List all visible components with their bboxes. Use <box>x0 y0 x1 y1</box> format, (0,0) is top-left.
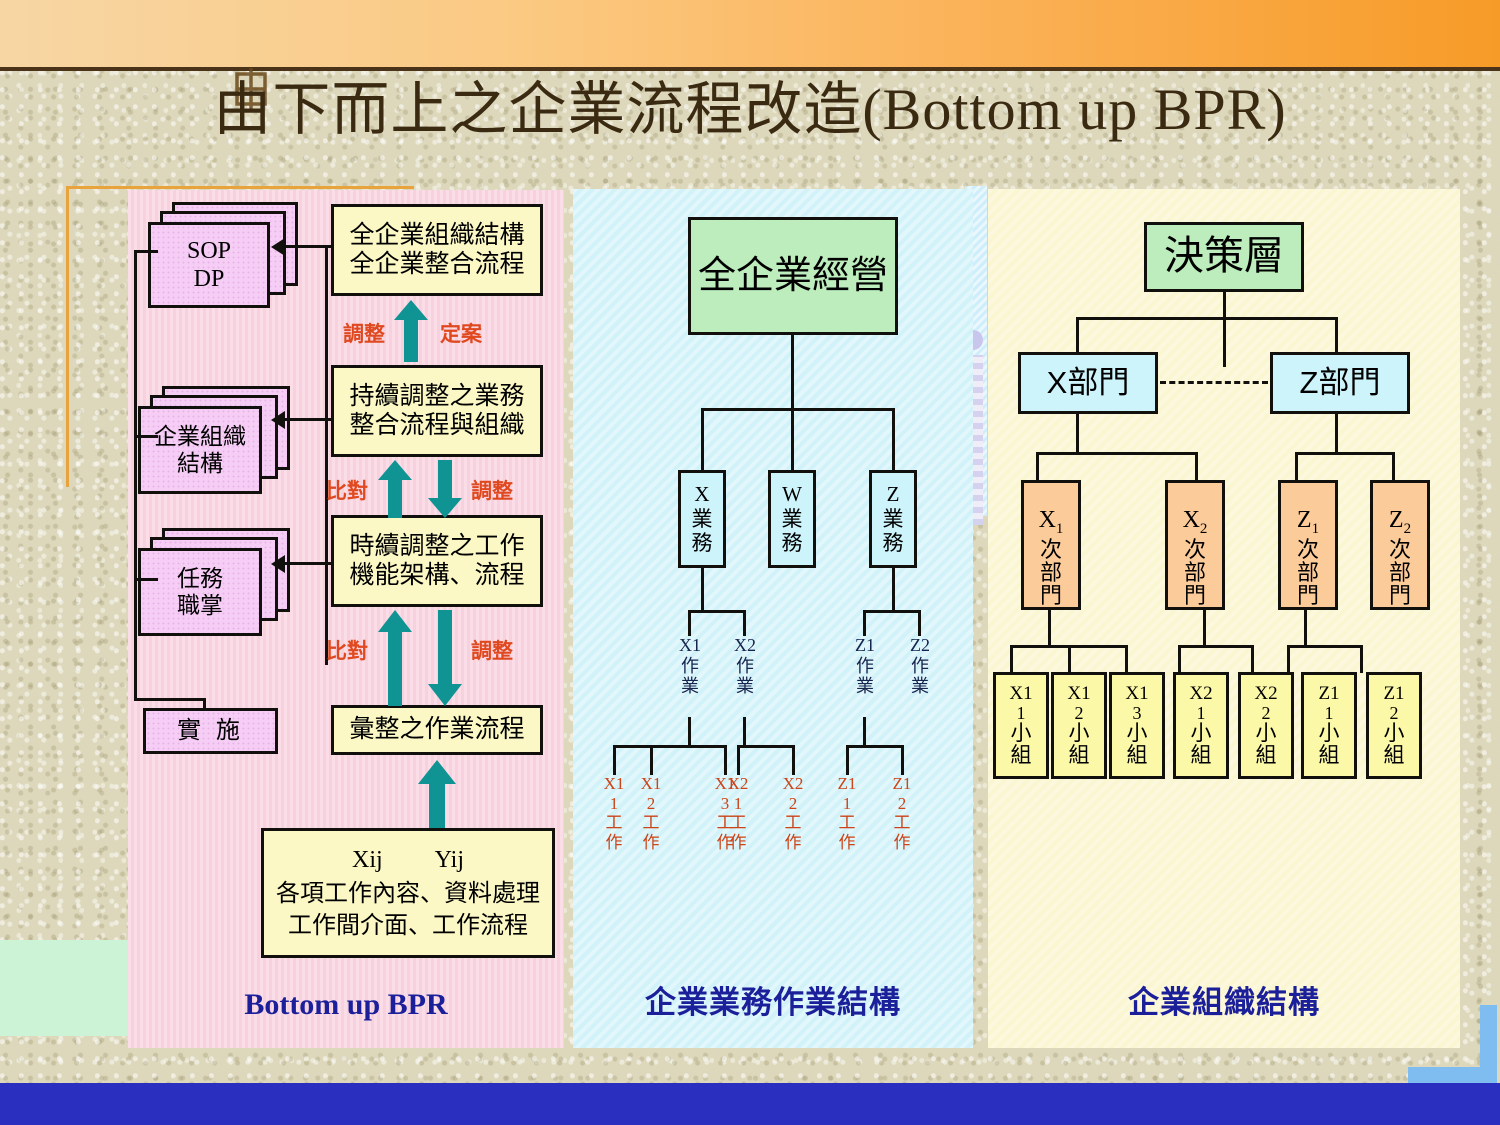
biz-node-w: W 業 務 <box>768 470 816 568</box>
biz-work-x11: X1 1 工 作 <box>595 774 633 852</box>
box-0-line1: 全企業組織結構 <box>349 221 524 251</box>
biz-leaf-z2: Z2 作 業 <box>900 635 940 697</box>
biz-x21-drop <box>737 745 740 775</box>
doc-stack-duty: 任務 職掌 <box>138 528 298 638</box>
org-x11-drop <box>1010 645 1013 673</box>
biz-x2-rail <box>737 745 795 748</box>
doc-duty: 任務 職掌 <box>138 548 262 636</box>
biz-level2-drop-x <box>701 408 704 470</box>
doc-stack-sop-dp: SOP DP <box>148 202 298 312</box>
doc-sop-dp: SOP DP <box>148 222 270 308</box>
org-team-x1-1-word: 小 組 <box>1011 723 1032 767</box>
biz-x-drop <box>701 568 704 612</box>
org-subdept-z2-rest: 次 部 門 <box>1389 538 1411 607</box>
code-xij: Xij <box>352 846 383 874</box>
org-team-x1-3-num: 3 <box>1133 704 1142 723</box>
caption-business-structure: 企業業務作業結構 <box>573 977 973 1022</box>
org-x21-drop <box>1178 645 1181 673</box>
caption-bottom-up-bpr: Bottom up BPR <box>128 988 564 1022</box>
left-spine-branch-3 <box>134 578 158 581</box>
org-subdept-x2: X2 次 部 門 <box>1165 480 1225 610</box>
box-xij-yij-codes: Xij Yij <box>352 846 464 874</box>
org-team-x1-3-code: X1 <box>1125 684 1148 704</box>
biz-x11-drop <box>613 745 616 775</box>
biz-node-x: X 業 務 <box>678 470 726 568</box>
org-x13-drop <box>1125 645 1128 673</box>
fat-arrow-down-2-icon <box>428 610 462 706</box>
org-subdept-z1-rest: 次 部 門 <box>1297 538 1319 607</box>
doc-org-structure-line1: 企業組織 <box>154 423 246 450</box>
biz-x2-drop <box>743 610 746 636</box>
biz-level2-drop-z <box>892 408 895 470</box>
org-root-node: 決策層 <box>1144 222 1304 292</box>
biz-leaf-x1: X1 作 業 <box>670 635 710 697</box>
org-z-stem <box>1335 414 1338 454</box>
doc-sop-dp-line1: SOP <box>187 237 231 265</box>
org-team-z1-2-code: Z1 <box>1383 684 1404 704</box>
biz-z1-rail <box>846 745 904 748</box>
org-subdept-x1-rest: 次 部 門 <box>1040 538 1062 607</box>
org-team-x2-2-num: 2 <box>1262 704 1271 723</box>
org-dept-x-drop <box>1076 317 1079 357</box>
biz-x13-drop <box>724 745 727 775</box>
org-dept-x: X部門 <box>1018 352 1158 414</box>
label-compare-1: 比對 <box>326 475 368 505</box>
org-z2-drop <box>1392 452 1395 482</box>
biz-z2-drop <box>918 610 921 636</box>
biz-x1-stem <box>688 717 691 747</box>
box-continuous-work-function: 時續調整之工作 機能架構、流程 <box>331 515 543 607</box>
org-dept-dashed-link <box>1160 381 1268 384</box>
label-adjust-1: 調整 <box>343 318 385 348</box>
biz-node-z: Z 業 務 <box>869 470 917 568</box>
box-2-line1: 時續調整之工作 <box>349 532 524 562</box>
org-team-x2-1-num: 1 <box>1197 704 1206 723</box>
biz-z1-drop <box>863 610 866 636</box>
org-x2-drop <box>1195 452 1198 482</box>
org-team-x1-1-code: X1 <box>1009 684 1032 704</box>
box-2-line2: 機能架構、流程 <box>349 561 524 591</box>
org-dept-z: Z部門 <box>1270 352 1410 414</box>
biz-z-rail <box>863 610 921 613</box>
biz-work-x21: X2 1 工 作 <box>719 774 757 852</box>
org-x1-stem <box>1048 610 1051 647</box>
org-team-x1-2-word: 小 組 <box>1069 723 1090 767</box>
org-team-x2-2: X2 2 小 組 <box>1238 672 1294 779</box>
biz-work-x22: X2 2 工 作 <box>774 774 812 852</box>
panel-business-operation-structure: 全企業經營 X 業 務 W 業 務 Z 業 務 X1 作 業 X2 作 業 Z1… <box>573 189 973 1048</box>
org-team-x2-1-word: 小 組 <box>1191 723 1212 767</box>
org-team-z1-2-num: 2 <box>1390 704 1399 723</box>
arrow-to-doc-3 <box>283 562 331 565</box>
caption-organization-structure: 企業組織結構 <box>988 977 1460 1022</box>
box-xij-yij-line2: 各項工作內容、資料處理 <box>276 880 540 908</box>
org-x1-drop <box>1036 452 1039 482</box>
org-subdept-z1-code: Z1 <box>1297 483 1319 538</box>
biz-z1-stem <box>863 717 866 747</box>
left-spine-to-implement <box>134 698 206 701</box>
box-enterprise-structure-process: 全企業組織結構 全企業整合流程 <box>331 204 543 296</box>
org-team-z1-1: Z1 1 小 組 <box>1301 672 1357 779</box>
biz-leaf-z1: Z1 作 業 <box>845 635 885 697</box>
org-team-x1-2-code: X1 <box>1067 684 1090 704</box>
left-spine-line <box>134 250 137 700</box>
box-continuous-biz-integration: 持續調整之業務 整合流程與組織 <box>331 365 543 457</box>
org-x22-drop <box>1251 645 1254 673</box>
biz-x12-drop <box>650 745 653 775</box>
org-team-x1-2-num: 2 <box>1075 704 1084 723</box>
org-subdept-x1-code: X1 <box>1039 483 1064 538</box>
org-subdept-z1: Z1 次 部 門 <box>1278 480 1338 610</box>
biz-work-z11: Z1 1 工 作 <box>828 774 866 852</box>
org-team-x1-2: X1 2 小 組 <box>1051 672 1107 779</box>
org-root-drop <box>1223 292 1226 367</box>
box-1-line1: 持續調整之業務 <box>349 382 524 412</box>
biz-x-rail <box>688 610 746 613</box>
biz-level2-rail <box>701 408 895 411</box>
biz-x22-drop <box>792 745 795 775</box>
biz-x1-rail <box>613 745 727 748</box>
org-team-x1-3-word: 小 組 <box>1127 723 1148 767</box>
left-spine-branch-2 <box>134 435 158 438</box>
arrow-to-doc-1 <box>283 245 331 248</box>
right-spine-line <box>325 245 328 665</box>
org-z12-drop <box>1360 645 1363 673</box>
label-finalize: 定案 <box>440 318 482 348</box>
label-adjust-3: 調整 <box>471 635 513 665</box>
org-dept-rail <box>1076 317 1338 320</box>
footer-blue-band <box>0 1083 1500 1125</box>
fat-arrow-up-2-icon <box>378 460 412 518</box>
biz-leaf-x2: X2 作 業 <box>725 635 765 697</box>
doc-sop-dp-line2: DP <box>194 265 225 293</box>
org-x2-stem <box>1203 610 1206 647</box>
biz-root-drop <box>791 335 794 410</box>
org-team-z1-2-word: 小 組 <box>1384 723 1405 767</box>
fat-arrow-up-1-icon <box>394 300 428 362</box>
implement-box: 實 施 <box>143 708 278 754</box>
biz-x2-stem <box>743 717 746 747</box>
panel-organization-structure: 決策層 X部門 Z部門 X1 次 部 門 X2 次 部 門 Z1 次 部 門 Z… <box>988 189 1460 1048</box>
org-subdept-x2-rest: 次 部 門 <box>1184 538 1206 607</box>
box-0-line2: 全企業整合流程 <box>349 250 524 280</box>
org-team-x1-3: X1 3 小 組 <box>1109 672 1165 779</box>
org-z1-drop <box>1295 452 1298 482</box>
org-team-z1-1-code: Z1 <box>1318 684 1339 704</box>
biz-x1-drop <box>688 610 691 636</box>
code-yij: Yij <box>435 846 464 874</box>
arrowhead-doc-2-icon <box>271 411 285 429</box>
org-z1-team-rail <box>1287 645 1363 648</box>
org-x12-drop <box>1068 645 1071 673</box>
label-compare-2: 比對 <box>326 635 368 665</box>
doc-org-structure: 企業組織 結構 <box>138 406 262 494</box>
doc-org-structure-line2: 結構 <box>177 450 223 477</box>
fat-arrow-up-3-icon <box>378 610 412 706</box>
biz-z12-drop <box>901 745 904 775</box>
biz-level2-drop-w <box>791 408 794 470</box>
arrowhead-doc-3-icon <box>271 555 285 573</box>
biz-root-node: 全企業經營 <box>688 217 898 335</box>
org-team-x2-1-code: X2 <box>1189 684 1212 704</box>
org-dept-z-drop <box>1335 317 1338 357</box>
org-subdept-x2-code: X2 <box>1183 483 1208 538</box>
org-team-z1-1-word: 小 組 <box>1319 723 1340 767</box>
panel-bottom-up-bpr: SOP DP 企業組織 結構 任務 職掌 實 施 全企業組織結構 全企業整合流程… <box>128 190 564 1048</box>
biz-work-x12: X1 2 工 作 <box>632 774 670 852</box>
box-xij-yij-line3: 工作間介面、工作流程 <box>288 912 528 940</box>
doc-stack-org-structure: 企業組織 結構 <box>138 386 298 496</box>
org-x-rail <box>1036 452 1198 455</box>
doc-duty-line2: 職掌 <box>177 592 223 619</box>
fat-arrow-down-1-icon <box>428 460 462 518</box>
org-subdept-z2-code: Z2 <box>1389 483 1411 538</box>
org-team-x2-2-code: X2 <box>1254 684 1277 704</box>
org-z11-drop <box>1287 645 1290 673</box>
label-adjust-2: 調整 <box>471 475 513 505</box>
decorative-green-rect <box>0 940 128 1036</box>
org-team-x1-1: X1 1 小 組 <box>993 672 1049 779</box>
box-xij-yij: Xij Yij 各項工作內容、資料處理 工作間介面、工作流程 <box>261 828 555 958</box>
doc-duty-line1: 任務 <box>177 565 223 592</box>
page-title: 由下而上之企業流程改造(Bottom up BPR) <box>0 62 1500 146</box>
biz-z-drop <box>892 568 895 612</box>
biz-z11-drop <box>846 745 849 775</box>
org-team-z1-1-num: 1 <box>1325 704 1334 723</box>
org-team-z1-2: Z1 2 小 組 <box>1366 672 1422 779</box>
box-consolidated-process: 彙整之作業流程 <box>331 705 543 755</box>
header-orange-band <box>0 0 1500 68</box>
org-subdept-z2: Z2 次 部 門 <box>1370 480 1430 610</box>
box-1-line2: 整合流程與組織 <box>349 411 524 441</box>
arrow-to-doc-2 <box>283 418 331 421</box>
fat-arrow-up-4-icon <box>418 760 456 836</box>
org-team-x2-1: X2 1 小 組 <box>1173 672 1229 779</box>
arrowhead-doc-1-icon <box>271 238 285 256</box>
org-z-rail <box>1295 452 1395 455</box>
org-subdept-x1: X1 次 部 門 <box>1021 480 1081 610</box>
org-x2-team-rail <box>1178 645 1254 648</box>
org-team-x2-2-word: 小 組 <box>1256 723 1277 767</box>
org-z1-stem <box>1304 610 1307 647</box>
org-x-stem <box>1076 414 1079 454</box>
biz-work-z12: Z1 2 工 作 <box>883 774 921 852</box>
org-team-x1-1-num: 1 <box>1017 704 1026 723</box>
left-spine-branch-1 <box>134 250 158 253</box>
